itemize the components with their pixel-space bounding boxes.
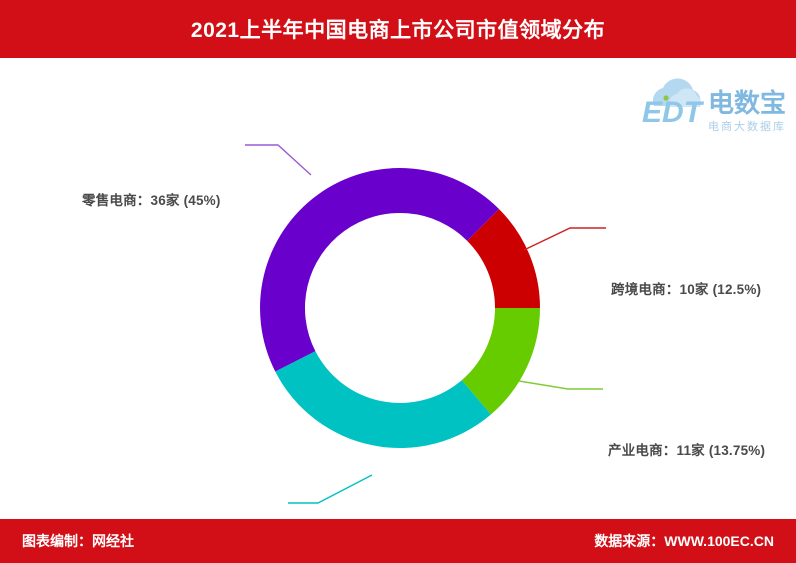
footer-data-source: 数据来源：WWW.100EC.CN (594, 531, 774, 551)
label-retail-ecommerce: 零售电商：36家 (45%) (82, 189, 221, 209)
donut-chart: 零售电商：36家 (45%) 跨境电商：10家 (12.5%) 产业电商：11家… (0, 58, 796, 519)
footer-producer: 图表编制：网经社 (22, 531, 134, 551)
leader-line-retail (245, 145, 311, 175)
slice-life-service-ecommerce[interactable] (275, 351, 491, 448)
page-title: 2021上半年中国电商上市公司市值领域分布 (191, 14, 605, 44)
label-industry-ecommerce: 产业电商：11家 (13.75%) (608, 439, 765, 459)
label-cross-border-ecommerce: 跨境电商：10家 (12.5%) (611, 278, 761, 298)
footer-bar: 图表编制：网经社 数据来源：WWW.100EC.CN (0, 519, 796, 563)
leader-line-industry (519, 381, 603, 389)
slice-retail-ecommerce[interactable] (260, 168, 499, 372)
chart-page: 2021上半年中国电商上市公司市值领域分布 EDT 电数宝 电商大数据库 (0, 0, 796, 563)
leader-line-cross (524, 228, 606, 250)
leader-line-life (288, 475, 372, 503)
header-bar: 2021上半年中国电商上市公司市值领域分布 (0, 0, 796, 58)
